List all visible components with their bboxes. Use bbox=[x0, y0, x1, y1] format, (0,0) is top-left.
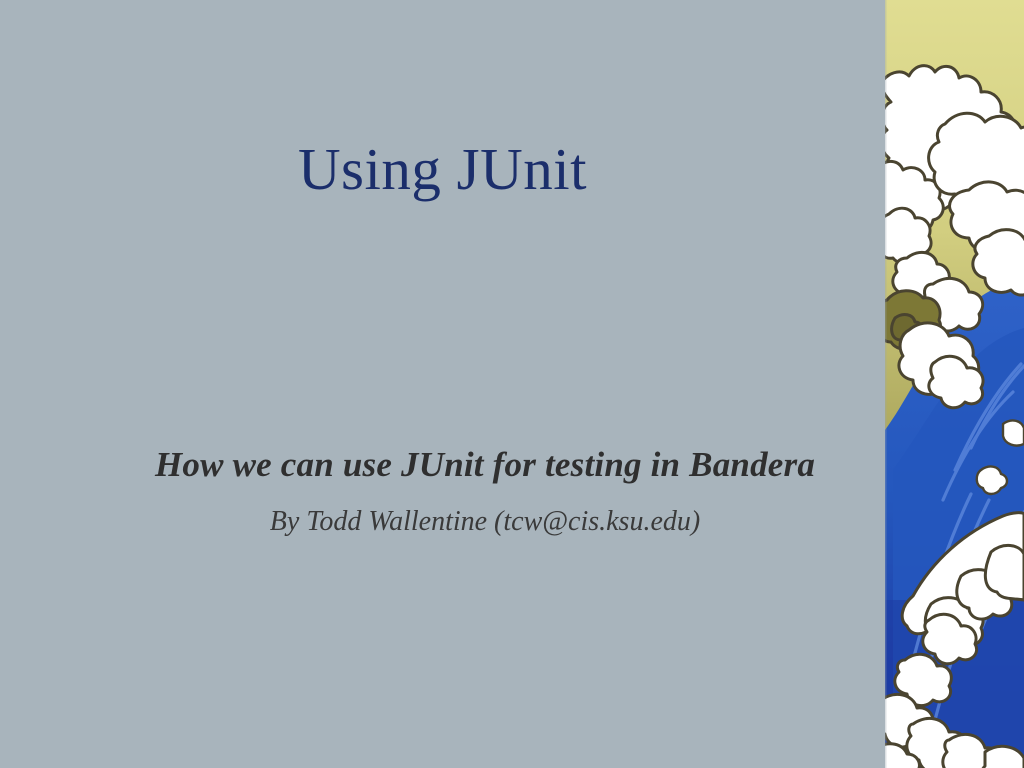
slide-author: By Todd Wallentine (tcw@cis.ksu.edu) bbox=[90, 505, 880, 539]
slide-subtitle: How we can use JUnit for testing in Band… bbox=[90, 443, 880, 487]
title-area: Using JUnit bbox=[0, 138, 885, 201]
page-title: Using JUnit bbox=[0, 138, 885, 201]
presentation-slide: Using JUnit How we can use JUnit for tes… bbox=[0, 0, 1024, 768]
great-wave-decoration bbox=[885, 0, 1024, 768]
subtitle-area: How we can use JUnit for testing in Band… bbox=[90, 443, 880, 538]
